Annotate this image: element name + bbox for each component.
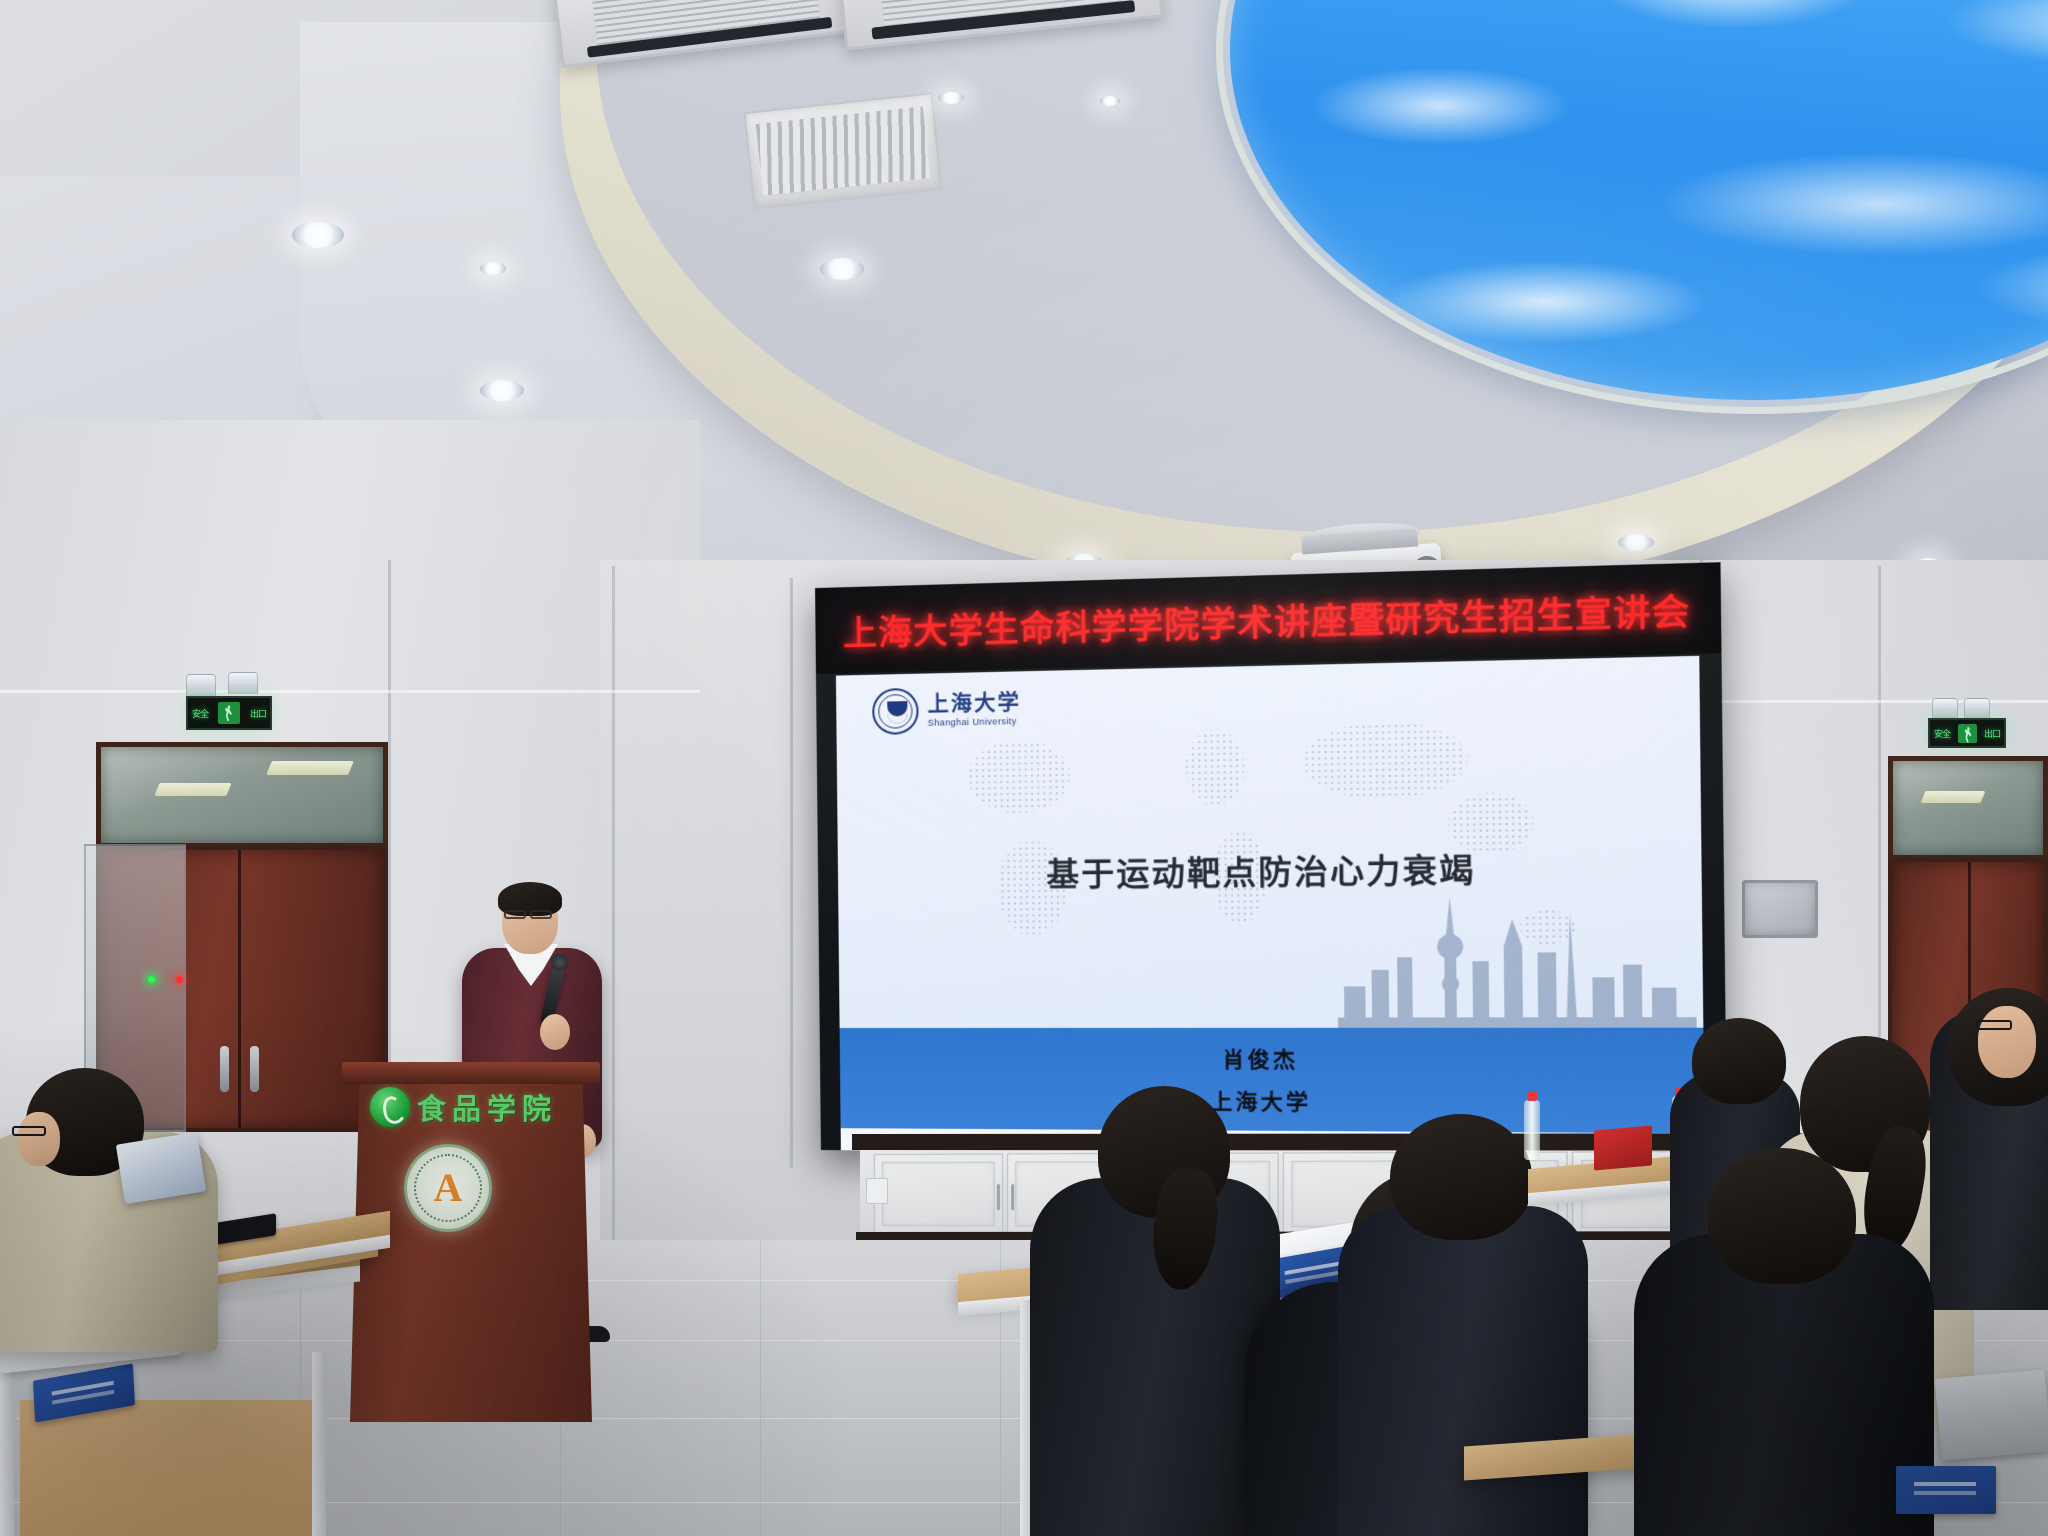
emergency-light-left	[186, 674, 216, 696]
booklet[interactable]	[1896, 1466, 1996, 1514]
door-transom-right	[1888, 756, 2048, 860]
desk-panel	[20, 1400, 312, 1536]
audience-person-head	[1692, 1018, 1786, 1104]
audience-person-face	[18, 1112, 60, 1166]
podium-emblem-letter: A	[434, 1168, 463, 1208]
podium-sign-text: 食品学院	[417, 1086, 557, 1128]
wall-trim	[0, 690, 700, 693]
smoke-detector-icon	[938, 92, 964, 104]
exit-sign-left: 安全 出口	[186, 696, 272, 730]
wall-seam	[612, 566, 615, 1256]
downlight-icon	[480, 262, 506, 275]
presentation-slide: 上海大学 Shanghai University 基于运动靶点防治心力衰竭	[836, 656, 1705, 1134]
shanghai-university-seal-icon	[872, 688, 919, 735]
running-man-icon	[1958, 724, 1977, 743]
audience-person-face	[1978, 1006, 2036, 1078]
downlight-icon	[1100, 96, 1120, 106]
emergency-light-left-2	[228, 672, 258, 694]
leaf-circle-icon	[370, 1087, 410, 1127]
downlight-icon	[1618, 534, 1654, 551]
logo-text-cn: 上海大学	[927, 692, 1021, 715]
emergency-light-right	[1932, 698, 1958, 718]
speaker-glasses-icon	[530, 910, 552, 919]
slide-title: 基于运动靶点防治心力衰竭	[838, 842, 1702, 898]
laptop[interactable]	[1935, 1369, 2048, 1460]
desk-leg	[312, 1352, 326, 1536]
speaker-name: 肖俊杰	[1222, 1043, 1298, 1074]
glasses-icon	[12, 1126, 46, 1136]
air-vent	[743, 92, 942, 209]
exit-sign-label-right: 出口	[250, 707, 266, 720]
podium-emblem: A	[404, 1144, 492, 1232]
wall-equipment-box	[1742, 880, 1818, 938]
exit-sign-label-left: 安全	[192, 707, 208, 720]
audience-person-torso	[1338, 1206, 1588, 1536]
cabinet-door[interactable]	[874, 1153, 1003, 1234]
speaker-affiliation: 上海大学	[1210, 1085, 1311, 1116]
power-socket	[866, 1178, 888, 1204]
laptop[interactable]	[116, 1132, 206, 1204]
glasses-icon	[1976, 1020, 2012, 1030]
downlight-icon	[292, 222, 344, 248]
exit-sign-right: 安全 出口	[1928, 718, 2006, 748]
shanghai-skyline-decoration	[1337, 895, 1697, 1028]
logo-text-en: Shanghai University	[928, 716, 1022, 728]
university-logo: 上海大学 Shanghai University	[872, 686, 1021, 735]
podium-sign: 食品学院	[366, 1080, 574, 1134]
exit-sign-label-right: 出口	[1984, 727, 2000, 740]
running-man-icon	[218, 702, 240, 724]
water-bottle[interactable]	[1524, 1100, 1540, 1160]
door-transom-left	[96, 742, 388, 848]
exit-sign-label-left: 安全	[1934, 727, 1950, 740]
audience-person-head	[1708, 1148, 1856, 1284]
glasses-icon	[1806, 1108, 1838, 1118]
wall-trim	[1700, 700, 2048, 703]
downlight-icon	[820, 258, 864, 280]
wall-seam	[790, 578, 793, 1168]
speaker-hand	[540, 1014, 570, 1050]
status-led-red-icon	[176, 976, 183, 983]
lecture-hall-photo: 安全 出口 安全 出口 上海大学生命科学学院学术讲座暨研究生招生宣讲会 上海大学…	[0, 0, 2048, 1536]
speaker-glasses-icon	[504, 910, 526, 919]
slide-footer-band: 肖俊杰 上海大学	[840, 1028, 1705, 1134]
red-box[interactable]	[1594, 1125, 1652, 1170]
downlight-icon	[480, 380, 524, 401]
projection-screen: 上海大学生命科学学院学术讲座暨研究生招生宣讲会 上海大学 Shanghai Un…	[815, 562, 1727, 1157]
audience-person-head	[1390, 1114, 1532, 1240]
led-marquee-text: 上海大学生命科学学院学术讲座暨研究生招生宣讲会	[843, 583, 1691, 655]
emergency-light-right-2	[1964, 698, 1990, 718]
status-led-green-icon	[148, 976, 155, 983]
